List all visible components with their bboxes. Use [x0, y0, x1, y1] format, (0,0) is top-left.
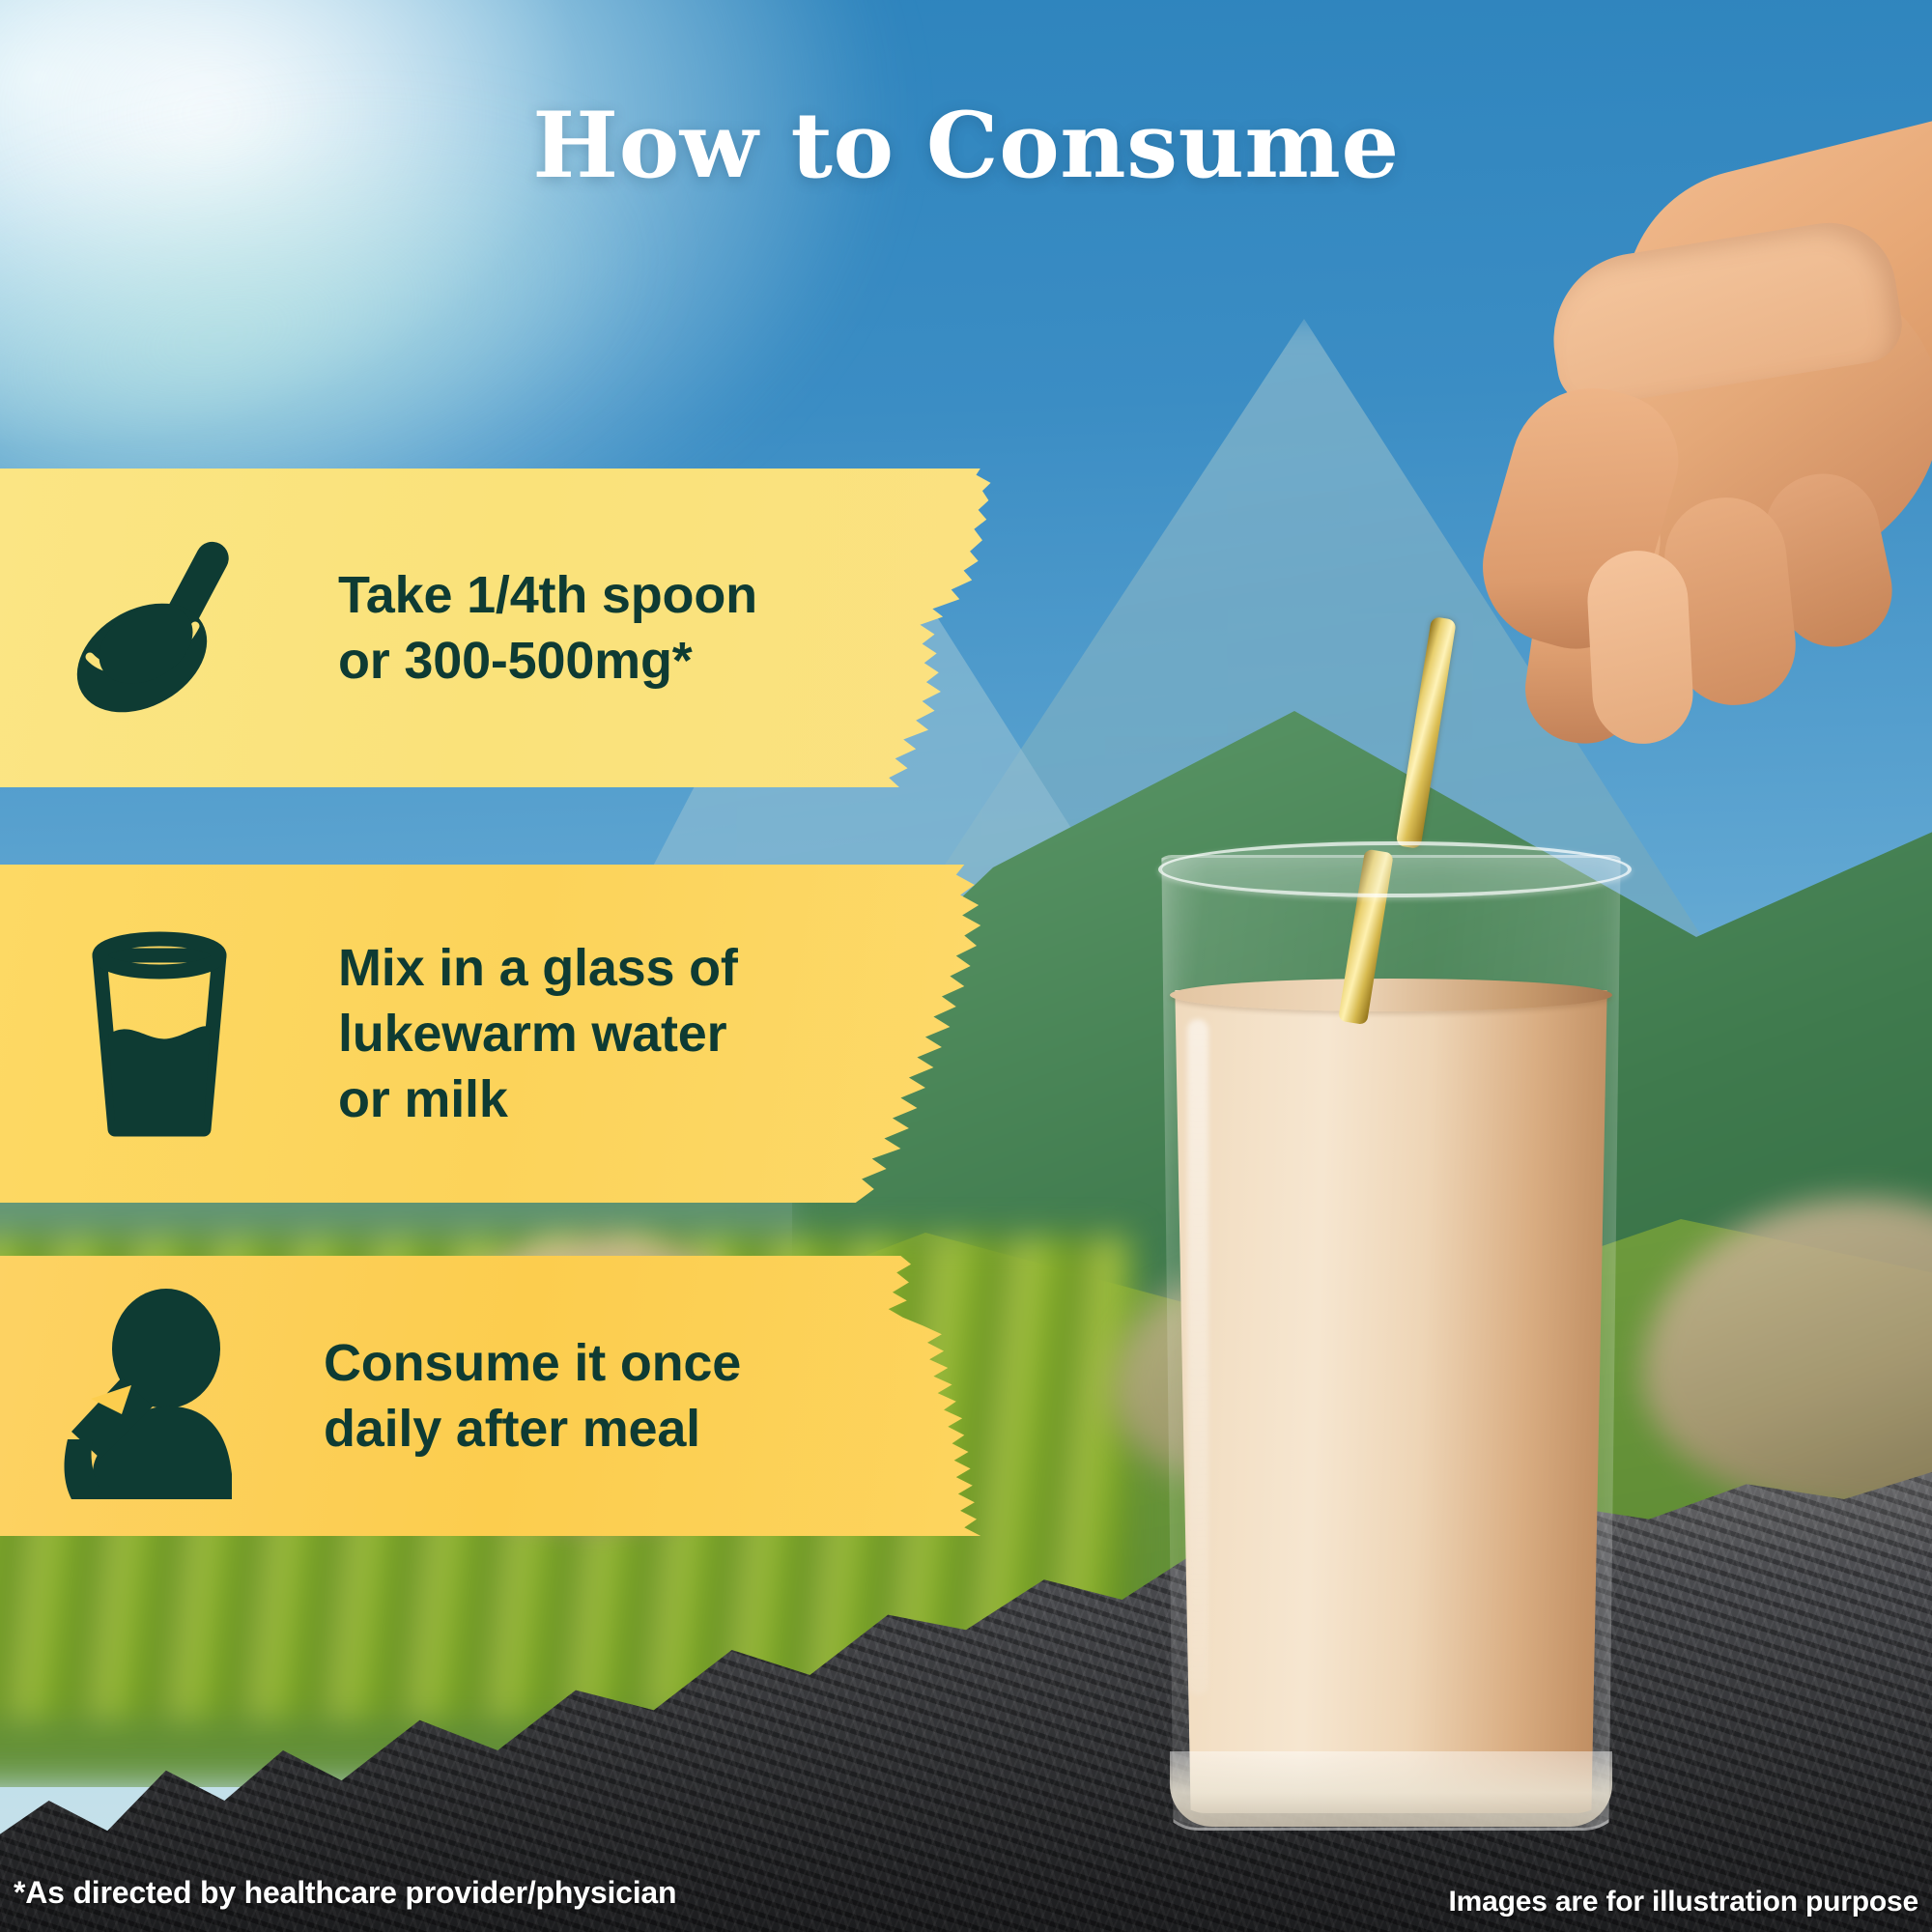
- page-title: How to Consume: [0, 93, 1932, 199]
- step-2-line-2: lukewarm water: [338, 1001, 738, 1066]
- step-2-line-1: Mix in a glass of: [338, 935, 738, 1001]
- infographic-canvas: How to Consume Take 1/4th spoon or 300-5…: [0, 0, 1932, 1932]
- step-2-line-3: or milk: [338, 1066, 738, 1132]
- step-banner-1: Take 1/4th spoon or 300-500mg*: [0, 469, 1038, 787]
- step-banner-2: Mix in a glass of lukewarm water or milk: [0, 865, 1026, 1203]
- measuring-spoon-icon: [58, 526, 261, 729]
- step-3-line-1: Consume it once: [324, 1330, 741, 1396]
- milk-surface: [1170, 979, 1612, 1011]
- step-banner-3: Consume it once daily after meal: [0, 1256, 1026, 1536]
- step-1-text: Take 1/4th spoon or 300-500mg*: [338, 562, 757, 694]
- step-3-line-2: daily after meal: [324, 1396, 741, 1462]
- hand-holding-straw: [1362, 164, 1932, 821]
- milk-liquid: [1166, 990, 1616, 1813]
- step-1-line-2: or 300-500mg*: [338, 628, 757, 694]
- step-3-text: Consume it once daily after meal: [324, 1330, 741, 1462]
- person-drinking-icon: [39, 1285, 261, 1507]
- pinching-fingertip: [1585, 548, 1695, 746]
- glass-highlight: [1187, 1019, 1208, 1695]
- water-glass-icon: [58, 925, 261, 1143]
- glass-base: [1170, 1751, 1612, 1827]
- glass-of-milk: [1154, 855, 1628, 1831]
- glass-rim: [1158, 841, 1632, 897]
- step-2-text: Mix in a glass of lukewarm water or milk: [338, 935, 738, 1132]
- step-1-line-1: Take 1/4th spoon: [338, 562, 757, 628]
- disclaimer-left: *As directed by healthcare provider/phys…: [14, 1875, 676, 1911]
- disclaimer-right: Images are for illustration purpose: [1449, 1886, 1918, 1918]
